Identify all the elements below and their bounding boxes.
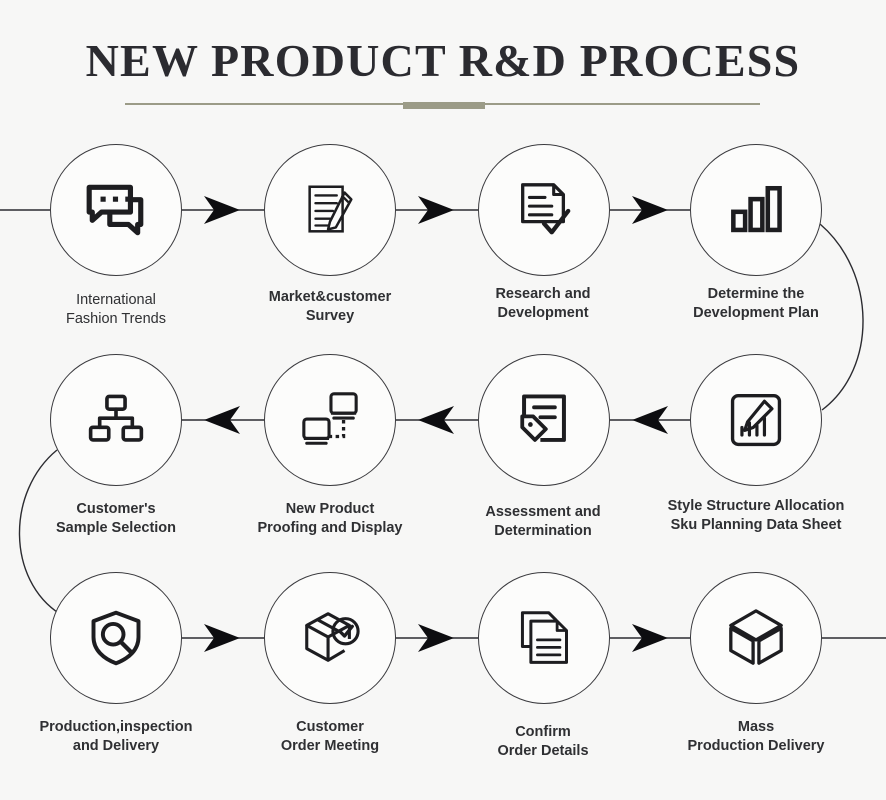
process-node-6[interactable] — [264, 354, 398, 488]
process-label-11: Confirm Order Details — [428, 723, 658, 761]
process-label-7: Assessment and Determination — [428, 503, 658, 541]
process-label-10: Customer Order Meeting — [215, 718, 445, 756]
process-node-11[interactable] — [478, 572, 612, 706]
node-circle-4[interactable] — [690, 144, 822, 276]
node-circle-5[interactable] — [50, 354, 182, 486]
process-label-12: Mass Production Delivery — [641, 718, 871, 756]
documents-stack-icon — [514, 608, 574, 668]
process-node-12[interactable] — [690, 572, 824, 706]
shield-search-icon — [86, 608, 146, 668]
bar-chart-icon — [727, 181, 785, 239]
node-circle-7[interactable] — [478, 354, 610, 486]
process-node-1[interactable] — [50, 144, 184, 278]
document-pencil-icon — [299, 179, 361, 241]
process-node-10[interactable] — [264, 572, 398, 706]
org-chart-icon — [87, 391, 145, 449]
process-label-9: Production,inspection and Delivery — [1, 718, 231, 756]
node-circle-6[interactable] — [264, 354, 396, 486]
process-node-3[interactable] — [478, 144, 612, 278]
node-circle-8[interactable] — [690, 354, 822, 486]
node-circle-2[interactable] — [264, 144, 396, 276]
node-circle-12[interactable] — [690, 572, 822, 704]
document-check-icon — [513, 179, 575, 241]
process-node-4[interactable] — [690, 144, 824, 278]
process-label-1: International Fashion Trends — [1, 291, 231, 329]
process-node-9[interactable] — [50, 572, 184, 706]
node-circle-11[interactable] — [478, 572, 610, 704]
chart-pencil-icon — [726, 390, 786, 450]
document-tag-icon — [515, 391, 573, 449]
node-circle-1[interactable] — [50, 144, 182, 276]
process-label-2: Market&customer Survey — [215, 288, 445, 326]
node-circle-9[interactable] — [50, 572, 182, 704]
process-label-3: Research and Development — [428, 285, 658, 323]
process-node-7[interactable] — [478, 354, 612, 488]
monitors-network-icon — [299, 389, 361, 451]
process-label-8: Style Structure Allocation Sku Planning … — [641, 497, 871, 535]
process-label-5: Customer's Sample Selection — [1, 500, 231, 538]
box-check-icon — [299, 607, 361, 669]
process-label-6: New Product Proofing and Display — [215, 500, 445, 538]
node-circle-10[interactable] — [264, 572, 396, 704]
process-node-8[interactable] — [690, 354, 824, 488]
process-node-5[interactable] — [50, 354, 184, 488]
chat-bubbles-icon — [83, 177, 149, 243]
cube-3d-icon — [725, 607, 787, 669]
process-node-2[interactable] — [264, 144, 398, 278]
diagram-canvas: NEW PRODUCT R&D PROCESS — [0, 0, 886, 800]
node-circle-3[interactable] — [478, 144, 610, 276]
process-label-4: Determine the Development Plan — [641, 285, 871, 323]
